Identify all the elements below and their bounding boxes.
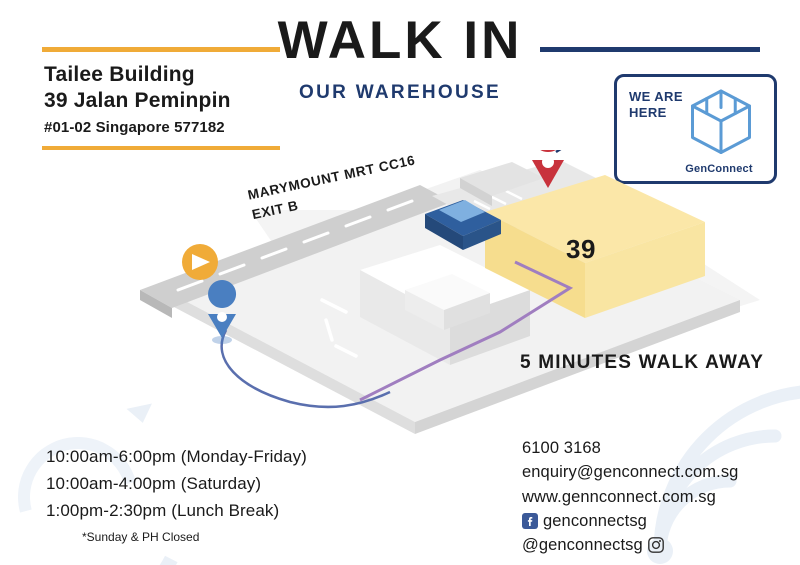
we-are-here-line-2: HERE <box>629 105 667 120</box>
contact-facebook-row[interactable]: genconnectsg <box>522 509 738 533</box>
contact-website[interactable]: www.gennconnect.com.sg <box>522 485 738 509</box>
instagram-icon <box>648 537 664 553</box>
contact-instagram-handle: @genconnectsg <box>522 533 643 557</box>
contact-email[interactable]: enquiry@genconnect.com.sg <box>522 460 738 484</box>
walk-duration-label: 5 MINUTES WALK AWAY <box>520 352 764 374</box>
contact-phone: 6100 3168 <box>522 436 738 460</box>
we-are-here-line-1: WE ARE <box>629 89 683 104</box>
hours-line-3: 1:00pm-2:30pm (Lunch Break) <box>46 498 307 525</box>
address-line-3: #01-02 Singapore 577182 <box>44 119 231 136</box>
map-illustration <box>60 150 760 440</box>
contact-block: 6100 3168 enquiry@genconnect.com.sg www.… <box>522 436 738 557</box>
genconnect-box-logo-icon <box>682 85 760 157</box>
infographic-page: WALK IN OUR WAREHOUSE Tailee Building 39… <box>0 0 800 565</box>
hours-line-1: 10:00am-6:00pm (Monday-Friday) <box>46 444 307 471</box>
address-block: Tailee Building 39 Jalan Peminpin #01-02… <box>44 62 231 136</box>
page-title: WALK IN <box>0 14 800 67</box>
hours-line-2: 10:00am-4:00pm (Saturday) <box>46 471 307 498</box>
address-line-2: 39 Jalan Peminpin <box>44 88 231 114</box>
building-number-label: 39 <box>566 234 596 265</box>
hours-note: *Sunday & PH Closed <box>82 530 307 544</box>
opening-hours-block: 10:00am-6:00pm (Monday-Friday) 10:00am-4… <box>46 444 307 544</box>
contact-facebook-handle: genconnectsg <box>543 509 647 533</box>
address-line-1: Tailee Building <box>44 62 231 88</box>
facebook-icon <box>522 513 538 529</box>
contact-instagram-row[interactable]: @genconnectsg <box>522 533 738 557</box>
exit-marker-icon <box>182 244 218 280</box>
